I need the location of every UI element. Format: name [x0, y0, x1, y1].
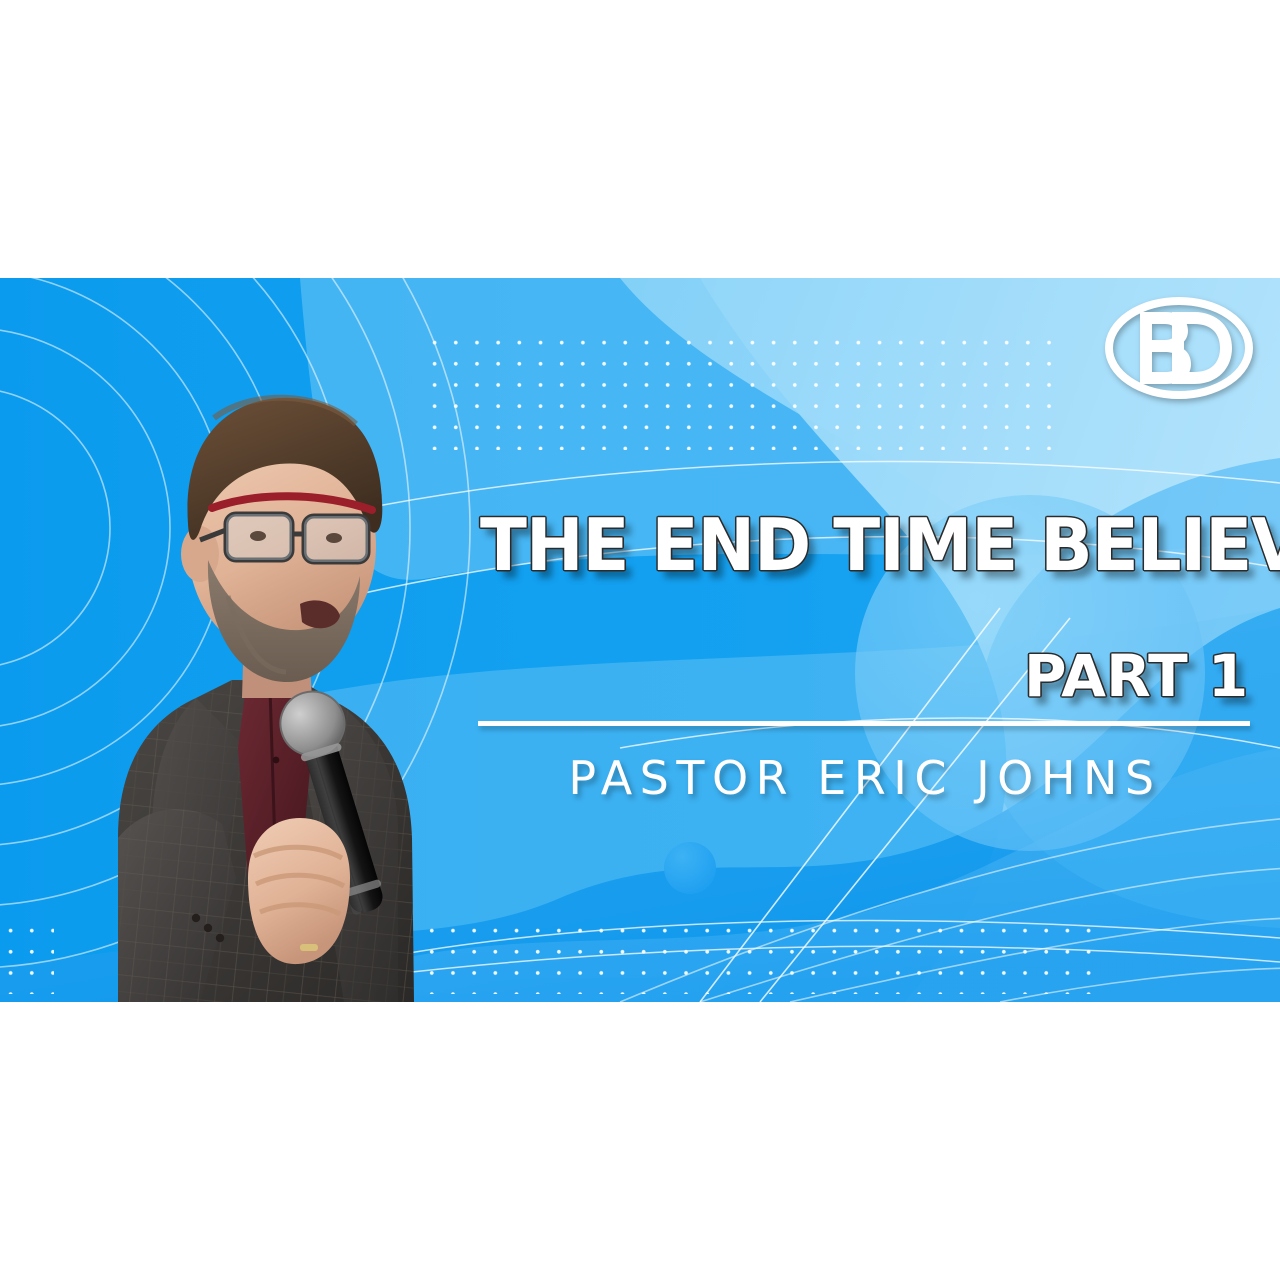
sermon-part-label: PART 1 [1024, 645, 1248, 707]
divider [478, 721, 1250, 726]
dot-grid-left [0, 920, 54, 994]
dot-grid-bottom [400, 920, 1100, 994]
sermon-banner [0, 278, 1280, 1002]
title-card-canvas: THE END TIME BELIEVER PART 1 PASTOR ERIC… [0, 0, 1280, 1280]
sermon-title: THE END TIME BELIEVER [480, 506, 1225, 584]
speaker-name: PASTOR ERIC JOHNS [480, 752, 1250, 804]
dot-grid-top [424, 332, 1064, 450]
bd-monogram-logo [1102, 292, 1257, 404]
